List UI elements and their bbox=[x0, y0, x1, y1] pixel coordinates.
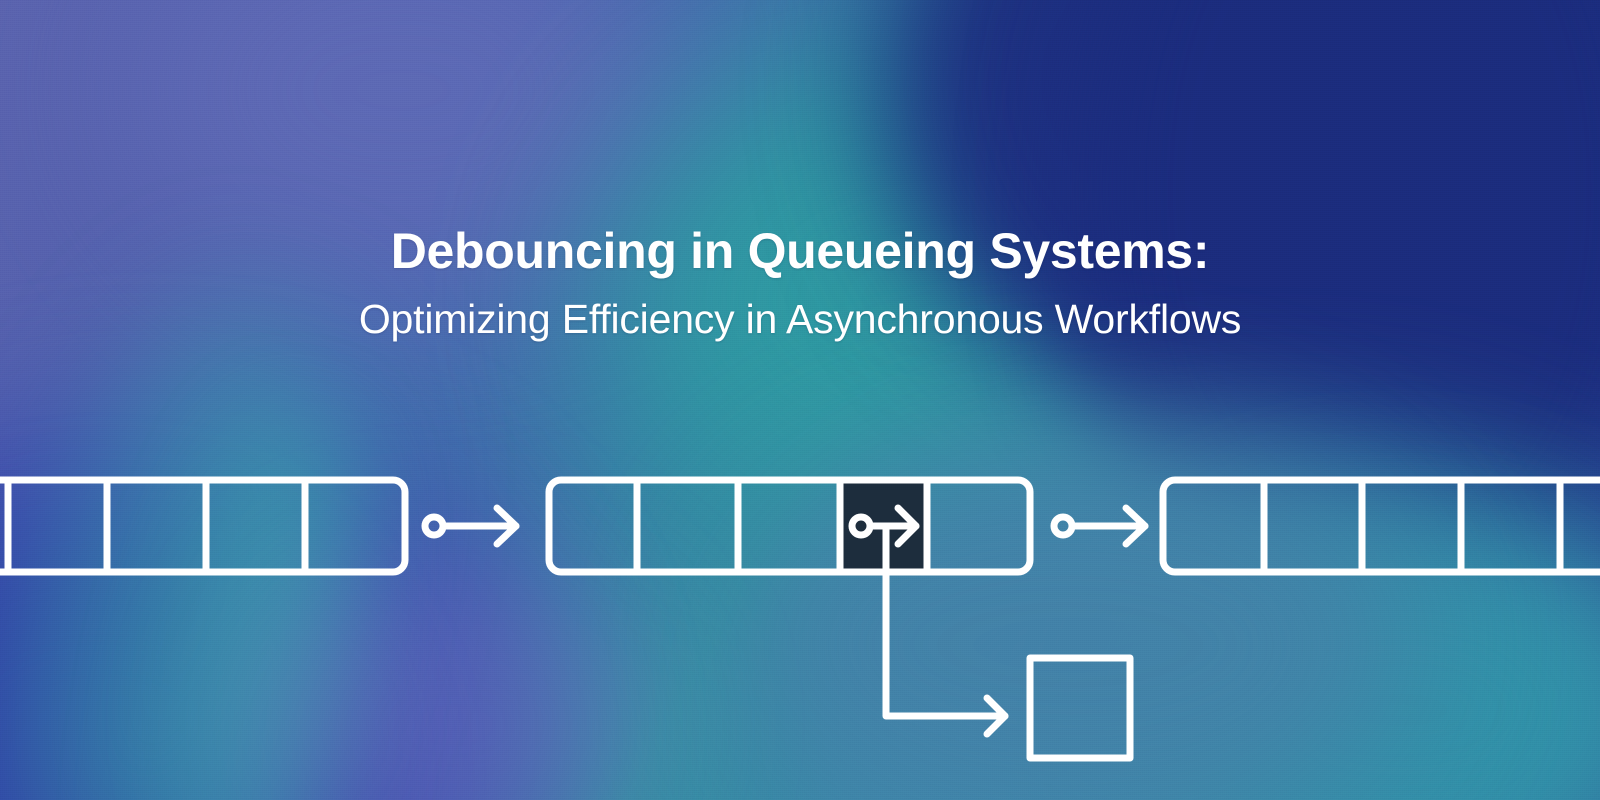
page-title: Debouncing in Queueing Systems: bbox=[80, 222, 1520, 281]
heading-block: Debouncing in Queueing Systems: Optimizi… bbox=[0, 222, 1600, 344]
background-gradient bbox=[0, 0, 1600, 800]
page-subtitle: Optimizing Efficiency in Asynchronous Wo… bbox=[80, 295, 1520, 344]
poster-canvas: Debouncing in Queueing Systems: Optimizi… bbox=[0, 0, 1600, 800]
